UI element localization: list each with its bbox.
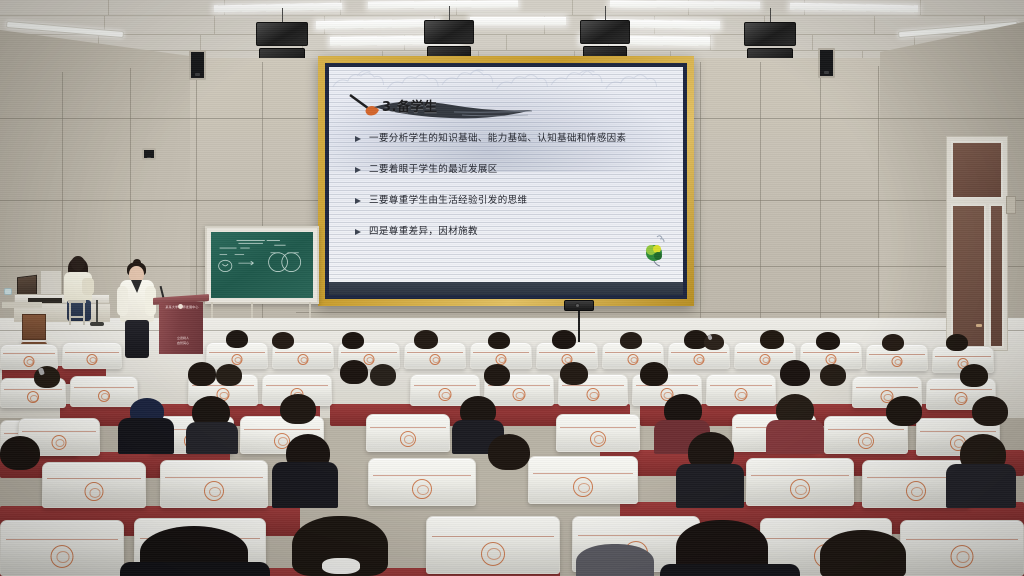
audience-head xyxy=(370,364,396,386)
audience-shoulders xyxy=(946,464,1016,508)
chalkboard-surface xyxy=(211,232,313,298)
table-row[interactable] xyxy=(62,342,122,369)
wall-speaker xyxy=(818,48,835,78)
bullet-arrow-icon xyxy=(355,197,364,206)
door-leaf-main[interactable] xyxy=(951,204,986,348)
slide-bullet-text: 一要分析学生的知识基础、能力基础、认知基础和情感因素 xyxy=(369,133,626,145)
audience-head xyxy=(226,330,248,348)
slide-bullet-text: 三要尊重学生由生活经验引发的思维 xyxy=(369,195,527,207)
table-row[interactable] xyxy=(900,520,1024,576)
slide-bullet-text: 二要着眼于学生的最近发展区 xyxy=(369,164,498,176)
operator-head xyxy=(71,256,85,271)
audience-head xyxy=(960,364,988,387)
audience-head xyxy=(972,396,1008,426)
audience-shoulders xyxy=(660,564,800,576)
slide-title: 3.备学生 xyxy=(382,96,437,115)
table-row[interactable] xyxy=(368,458,476,506)
audience-head xyxy=(216,364,242,386)
audience-head xyxy=(780,360,810,386)
audience-head xyxy=(188,362,216,386)
audience-head xyxy=(820,364,846,386)
wall-speaker xyxy=(189,50,206,80)
audience-head xyxy=(488,332,510,349)
screen-inner-border: 3.备学生 一要分析学生的知识基础、能力基础、认知基础和情感因素 二要着眼于学生… xyxy=(325,63,687,299)
audience-shoulders xyxy=(120,562,270,576)
slide-bullet-item: 一要分析学生的知识基础、能力基础、认知基础和情感因素 xyxy=(355,133,675,145)
exit-door-right[interactable] xyxy=(946,136,1008,351)
table-row[interactable] xyxy=(70,376,138,407)
audience-head xyxy=(488,434,530,470)
audience-head xyxy=(280,394,316,424)
bullet-arrow-icon xyxy=(355,166,364,175)
table-row[interactable] xyxy=(42,462,146,508)
audience-head xyxy=(760,330,784,349)
audience-head xyxy=(820,530,906,576)
audience-head xyxy=(882,334,904,351)
hanging-speaker xyxy=(744,22,796,62)
slide-bullet-item: 四是尊重差异，因材施教 xyxy=(355,226,675,238)
operator-stool xyxy=(66,300,88,326)
audience-head xyxy=(704,334,724,350)
door-handle-icon[interactable] xyxy=(976,324,982,327)
bullet-arrow-icon xyxy=(355,135,364,144)
slide-bullet-item: 三要尊重学生由生活经验引发的思维 xyxy=(355,195,675,207)
slide-footer-bar xyxy=(329,282,683,295)
audience-head xyxy=(560,362,588,385)
audience-shoulders xyxy=(118,418,174,454)
door-transom-window xyxy=(951,141,1003,199)
bullet-arrow-icon xyxy=(355,228,364,237)
operator-arm xyxy=(82,278,94,295)
audience-shoulders xyxy=(186,422,238,454)
audience-seating-area xyxy=(0,330,1024,576)
hair-clip-icon xyxy=(38,367,45,376)
hair-clip-icon xyxy=(707,335,712,341)
audience-head xyxy=(946,334,968,351)
ceiling-light-panel xyxy=(610,0,760,8)
audience-head xyxy=(272,332,294,349)
face-mask-icon xyxy=(322,558,360,574)
audience-head xyxy=(576,544,654,576)
desk-tray xyxy=(2,302,42,308)
floor-mic-stand xyxy=(90,300,104,330)
mug-icon xyxy=(4,288,12,295)
monitor-icon xyxy=(40,270,62,296)
table-row[interactable] xyxy=(528,456,638,504)
audience-head xyxy=(340,360,368,384)
projection-screen[interactable]: 3.备学生 一要分析学生的知识基础、能力基础、认知基础和情感因素 二要着眼于学生… xyxy=(318,56,694,306)
slide-title-block: 3.备学生 xyxy=(342,89,572,123)
slide-bullet-text: 四是尊重差异，因材施教 xyxy=(369,226,478,238)
chalkboard-notes xyxy=(211,232,313,298)
audience-head xyxy=(886,396,922,426)
table-row[interactable] xyxy=(706,374,776,406)
table-row[interactable] xyxy=(0,520,124,576)
audience-shoulders xyxy=(766,420,824,454)
audience-head xyxy=(342,332,364,349)
audience-head xyxy=(816,332,840,350)
ceiling-light-panel xyxy=(368,0,518,8)
green-chalkboard[interactable] xyxy=(205,226,319,304)
podium-emblem-icon xyxy=(178,304,183,309)
presenter-arm-left xyxy=(117,286,128,316)
ink-brush-stroke-icon xyxy=(342,93,562,119)
door-leaf-side xyxy=(989,204,1004,348)
slide-bullet-item: 二要着眼于学生的最近发展区 xyxy=(355,164,675,176)
audience-shoulders xyxy=(676,464,744,508)
audience-head xyxy=(620,332,642,349)
table-row[interactable] xyxy=(366,414,450,452)
ceiling-light-panel xyxy=(470,17,566,25)
lecture-hall-scene: 3.备学生 一要分析学生的知识基础、能力基础、认知基础和情感因素 二要着眼于学生… xyxy=(0,0,1024,576)
floral-ornament-icon xyxy=(641,233,671,267)
audience-shoulders xyxy=(272,462,338,508)
audience-head xyxy=(640,362,668,386)
table-row[interactable] xyxy=(426,516,560,574)
wall-speaker xyxy=(142,148,156,160)
audience-head xyxy=(552,330,576,349)
hanging-speaker xyxy=(256,22,308,62)
table-row[interactable] xyxy=(746,458,854,506)
camera-lens-icon xyxy=(575,303,580,308)
audience-head xyxy=(34,366,60,388)
presentation-slide: 3.备学生 一要分析学生的知识基础、能力基础、认知基础和情感因素 二要着眼于学生… xyxy=(329,67,683,295)
table-row[interactable] xyxy=(556,414,640,452)
audience-head xyxy=(484,364,510,386)
slide-bullet-list: 一要分析学生的知识基础、能力基础、认知基础和情感因素 二要着眼于学生的最近发展区… xyxy=(355,133,675,257)
table-row[interactable] xyxy=(160,460,268,508)
audience-head xyxy=(0,436,40,470)
audience-head xyxy=(414,330,438,349)
exit-sign xyxy=(1006,196,1016,214)
